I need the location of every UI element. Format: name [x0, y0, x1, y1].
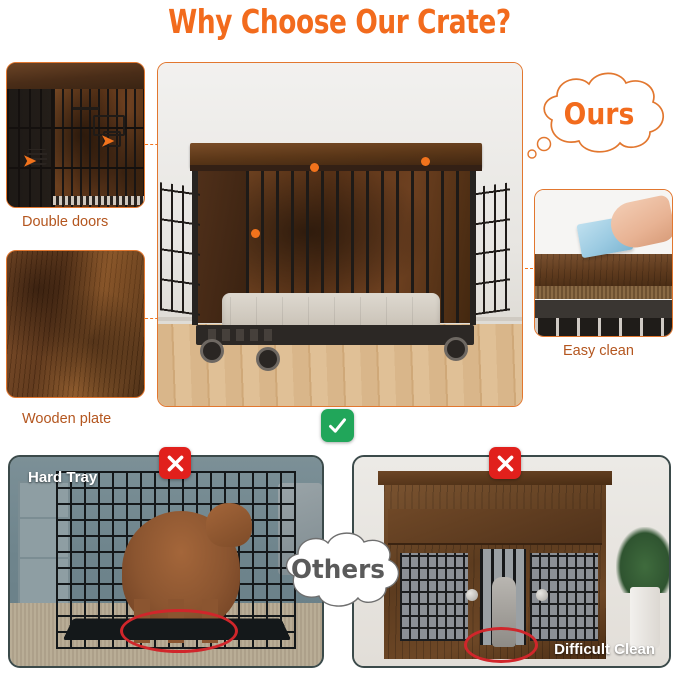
- hotspot-marker-3: [421, 157, 430, 166]
- hotspot-marker-2: [310, 163, 319, 172]
- crate-wood-top: [7, 63, 144, 89]
- highlight-ellipse-tray: [120, 609, 238, 653]
- caster-wheel-front-right: [256, 347, 280, 371]
- cloud-shape-icon: [268, 526, 408, 614]
- cross-icon: [165, 453, 186, 474]
- label-difficult-clean: Difficult Clean: [554, 641, 655, 658]
- cloud-shape-icon: [524, 66, 674, 162]
- cross-icon: [495, 453, 516, 474]
- feature-photo-wooden-plate: [6, 250, 145, 398]
- page-title: Why Choose Our Crate?: [68, 2, 611, 41]
- speech-bubble-others: Others: [268, 526, 408, 614]
- caption-wooden-plate: Wooden plate: [22, 411, 111, 427]
- competitor-crate-drawer: [388, 509, 602, 545]
- crate-tabletop-surface: [535, 254, 672, 286]
- cross-icon-badge-difficult-clean: [489, 447, 521, 479]
- check-icon-badge: [321, 409, 354, 442]
- latch-bar: [73, 107, 99, 110]
- crate-illustration: [186, 143, 486, 358]
- feature-photo-easy-clean: [534, 189, 673, 337]
- hotspot-marker-1: [251, 229, 260, 238]
- pointer-arrow-icon-left: ➤: [23, 154, 36, 170]
- caster-wheel-back-right: [444, 337, 468, 361]
- feature-photo-double-doors: ➤ ➤: [6, 62, 145, 208]
- door-knob-left-icon: [466, 589, 478, 601]
- caption-easy-clean: Easy clean: [563, 343, 634, 359]
- crate-tabletop-edge: [190, 165, 482, 171]
- infographic-canvas: Why Choose Our Crate? ➤ ➤ Double doors W…: [0, 0, 679, 675]
- competitor-crate-door-left: [400, 553, 468, 641]
- house-plant-leaves: [616, 527, 671, 593]
- dog-head: [206, 503, 252, 547]
- crate-frame-left: [192, 169, 198, 325]
- crate-front-crossbars: [53, 85, 145, 208]
- pointer-arrow-icon-right: ➤: [101, 134, 114, 150]
- caster-wheel-front-left: [200, 339, 224, 363]
- crate-wood-tabletop: [190, 143, 482, 167]
- crate-frame-right: [470, 169, 476, 325]
- wire-bars-horizontal: [7, 83, 53, 208]
- particleboard-edge: [535, 286, 672, 299]
- hero-photo-our-crate: [157, 62, 523, 407]
- crate-top-bars: [535, 318, 672, 336]
- crate-open-door-right: [472, 182, 510, 315]
- label-hard-tray: Hard Tray: [28, 469, 97, 486]
- crate-frame-rail: [535, 300, 672, 319]
- house-plant-pot: [630, 587, 660, 649]
- caption-double-doors: Double doors: [22, 214, 108, 230]
- speech-bubble-ours: Ours: [524, 66, 674, 162]
- cross-icon-badge-hard-tray: [159, 447, 191, 479]
- crate-base-slats: [208, 329, 278, 341]
- crate-side-mesh: [7, 83, 53, 208]
- door-knob-right-icon: [536, 589, 548, 601]
- crate-bottom-grate: [53, 196, 145, 205]
- check-icon: [327, 415, 348, 436]
- highlight-ellipse-corner: [464, 627, 538, 663]
- crate-door-divider: [51, 81, 54, 208]
